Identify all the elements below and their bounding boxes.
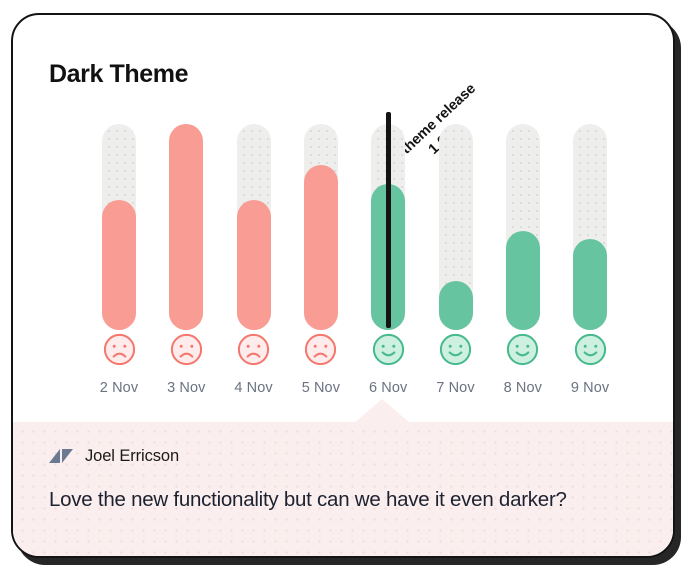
bar-fill xyxy=(573,239,607,330)
happy-face-icon xyxy=(372,333,405,366)
x-axis-tick-label: 3 Nov xyxy=(147,380,225,396)
happy-face-icon xyxy=(506,333,539,366)
sad-face-icon xyxy=(304,333,337,366)
sad-face-icon xyxy=(103,333,136,366)
bar-fill xyxy=(169,124,203,330)
comment-body-text: Love the new functionality but can we ha… xyxy=(49,488,567,512)
bar-column[interactable] xyxy=(102,124,136,330)
x-axis-tick-label: 2 Nov xyxy=(80,380,158,396)
bar-fill xyxy=(102,200,136,330)
x-axis-tick-label: 6 Nov xyxy=(349,380,427,396)
sad-face-icon xyxy=(170,333,203,366)
bar-fill xyxy=(439,281,473,330)
bar-column[interactable] xyxy=(169,124,203,330)
x-axis-tick-label: 5 Nov xyxy=(282,380,360,396)
bar-column[interactable] xyxy=(506,124,540,330)
x-axis-tick-label: 4 Nov xyxy=(215,380,293,396)
x-axis-tick-label: 9 Nov xyxy=(551,380,629,396)
dark-theme-feedback-card: Dark Theme Dark theme release 1.0 2 Nov3… xyxy=(11,13,675,558)
bar-column[interactable] xyxy=(439,124,473,330)
zendesk-z-logo-icon xyxy=(49,444,73,468)
release-marker-line xyxy=(386,112,391,328)
bar-fill xyxy=(237,200,271,330)
bar-column[interactable] xyxy=(304,124,338,330)
happy-face-icon xyxy=(574,333,607,366)
sentiment-bar-chart: 2 Nov3 Nov4 Nov5 Nov6 Nov7 Nov8 Nov9 Nov xyxy=(13,15,675,435)
comment-panel: Joel Erricson Love the new functionality… xyxy=(13,422,675,556)
bar-column[interactable] xyxy=(573,124,607,330)
comment-header: Joel Erricson xyxy=(49,444,179,468)
bar-fill xyxy=(506,231,540,330)
comment-author-name: Joel Erricson xyxy=(85,447,179,466)
x-axis-tick-label: 8 Nov xyxy=(484,380,562,396)
bar-fill xyxy=(304,165,338,330)
x-axis-tick-label: 7 Nov xyxy=(417,380,495,396)
happy-face-icon xyxy=(439,333,472,366)
bar-column[interactable] xyxy=(237,124,271,330)
comment-pointer-caret xyxy=(354,399,410,423)
sad-face-icon xyxy=(237,333,270,366)
